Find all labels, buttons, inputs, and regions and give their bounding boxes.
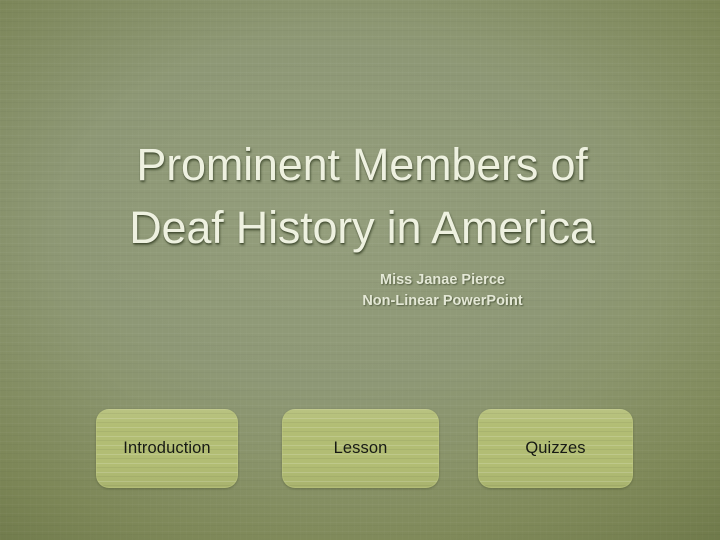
title-line-1: Prominent Members of (62, 133, 662, 196)
nav-button-quizzes[interactable]: Quizzes (478, 409, 633, 488)
nav-button-lesson[interactable]: Lesson (282, 409, 439, 488)
presentation-slide: Prominent Members of Deaf History in Ame… (0, 0, 720, 540)
subtitle-line-type: Non-Linear PowerPoint (120, 291, 720, 312)
title-line-2: Deaf History in America (62, 196, 662, 259)
nav-button-lesson-label: Lesson (334, 439, 388, 458)
slide-title: Prominent Members of Deaf History in Ame… (62, 133, 662, 259)
nav-button-quizzes-label: Quizzes (525, 439, 585, 458)
slide-subtitle: Miss Janae Pierce Non-Linear PowerPoint (120, 270, 720, 312)
subtitle-line-author: Miss Janae Pierce (120, 270, 720, 291)
navigation-button-row: Introduction Lesson Quizzes (0, 409, 720, 489)
nav-button-introduction-label: Introduction (123, 439, 210, 458)
nav-button-introduction[interactable]: Introduction (96, 409, 238, 488)
